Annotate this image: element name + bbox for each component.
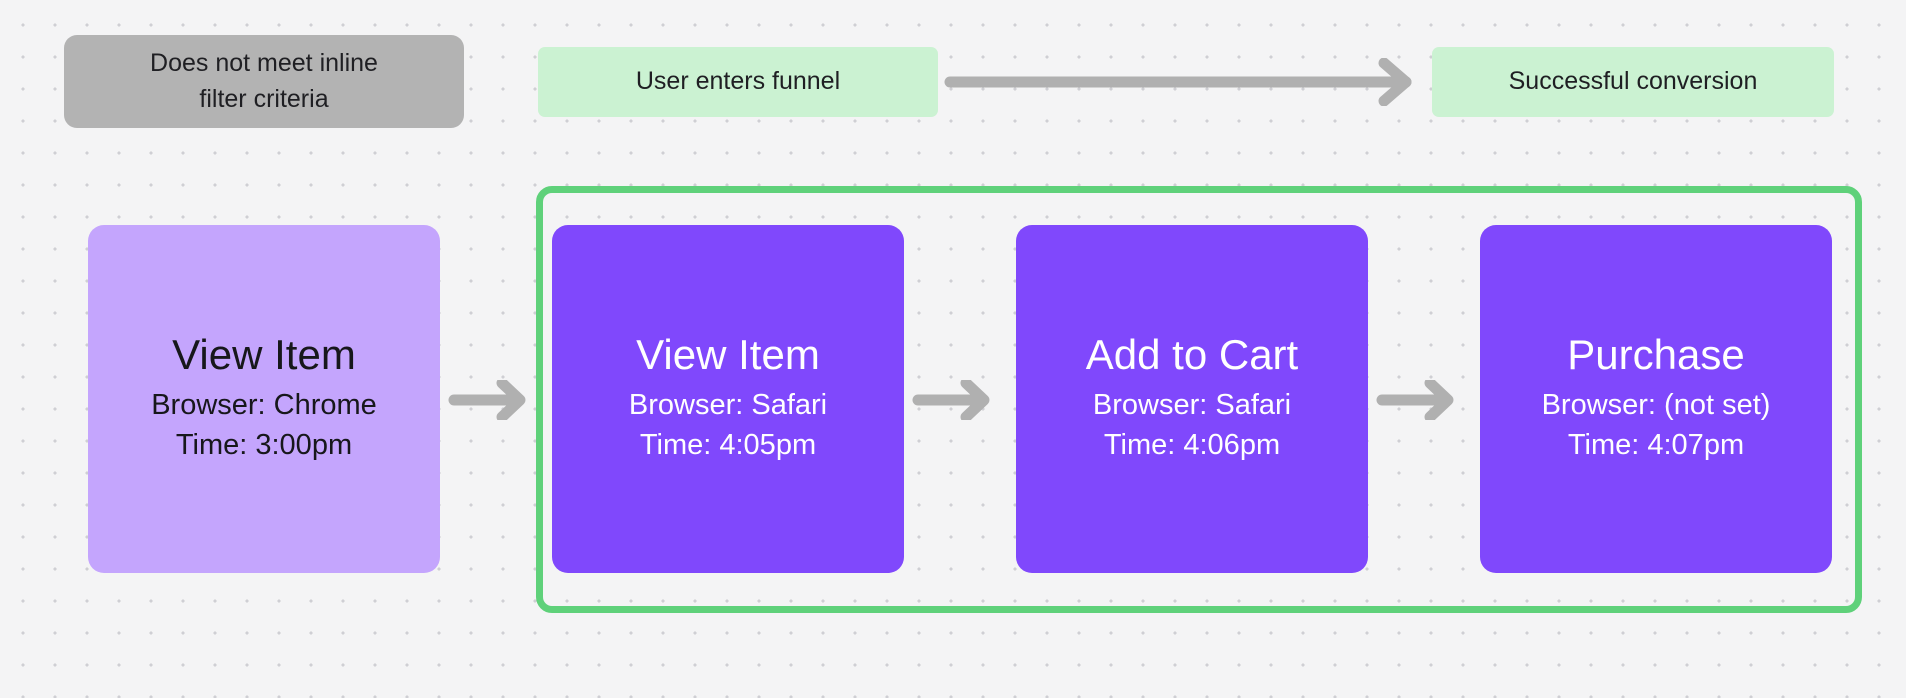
flow-arrow-icon-0 (448, 380, 530, 420)
event-card-step-2-browser: Browser: Safari (1093, 385, 1291, 425)
event-card-step-3-browser: Browser: (not set) (1542, 385, 1771, 425)
event-card-step-1-title: View Item (636, 333, 820, 378)
event-card-step-3: Purchase Browser: (not set) Time: 4:07pm (1480, 225, 1832, 573)
event-card-step-1-time: Time: 4:05pm (640, 425, 816, 465)
legend-chip-user-enters-funnel-label: User enters funnel (636, 64, 840, 100)
event-card-step-3-time: Time: 4:07pm (1568, 425, 1744, 465)
legend-chip-user-enters-funnel: User enters funnel (538, 47, 938, 117)
legend-chip-successful-conversion: Successful conversion (1432, 47, 1834, 117)
event-card-step-0-title: View Item (172, 333, 356, 378)
event-card-step-0-time: Time: 3:00pm (176, 425, 352, 465)
legend-chip-excluded: Does not meet inline filter criteria (64, 35, 464, 128)
event-card-step-0: View Item Browser: Chrome Time: 3:00pm (88, 225, 440, 573)
legend-chip-excluded-line2: filter criteria (150, 82, 378, 118)
event-card-step-2-time: Time: 4:06pm (1104, 425, 1280, 465)
event-card-step-2-title: Add to Cart (1086, 333, 1298, 378)
diagram-canvas: Does not meet inline filter criteria Use… (0, 0, 1906, 698)
legend-chip-excluded-text: Does not meet inline filter criteria (150, 46, 378, 117)
event-card-step-1: View Item Browser: Safari Time: 4:05pm (552, 225, 904, 573)
event-card-step-2: Add to Cart Browser: Safari Time: 4:06pm (1016, 225, 1368, 573)
event-card-step-3-title: Purchase (1567, 333, 1744, 378)
legend-flow-arrow-icon (944, 58, 1422, 106)
flow-arrow-icon-1 (912, 380, 994, 420)
flow-arrow-icon-2 (1376, 380, 1458, 420)
event-card-step-0-browser: Browser: Chrome (151, 385, 377, 425)
legend-chip-successful-conversion-label: Successful conversion (1509, 64, 1758, 100)
event-card-step-1-browser: Browser: Safari (629, 385, 827, 425)
legend-chip-excluded-line1: Does not meet inline (150, 46, 378, 82)
